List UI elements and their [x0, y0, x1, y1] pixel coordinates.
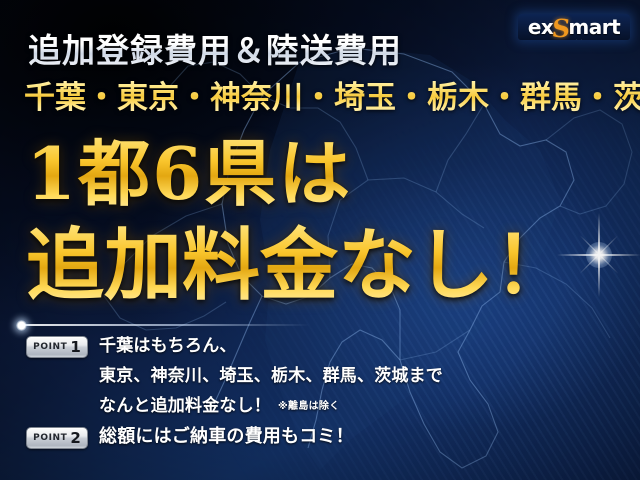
point-2-badge: POINT 2	[26, 427, 88, 449]
point-2-badge-word: POINT	[33, 433, 67, 443]
exsmart-logo[interactable]: ex S mart exsmart.jp	[518, 14, 630, 40]
point-1-block: POINT 1 千葉はもちろん、 東京、神奈川、埼玉、栃木、群馬、茨城まで なん…	[26, 336, 443, 422]
headline-line-2-prefectures: 千葉・東京・神奈川・埼玉・栃木・群馬・茨城の	[24, 72, 640, 117]
logo-text-suffix: mart	[568, 17, 620, 37]
point-1-text: 千葉はもちろん、 東京、神奈川、埼玉、栃木、群馬、茨城まで なんと追加料金なし！…	[99, 331, 443, 422]
headline-line-4-main: 追加料金なし！	[26, 203, 572, 315]
divider-dot-icon	[16, 320, 27, 331]
section-divider	[20, 324, 310, 326]
point-2-badge-number: 2	[70, 431, 80, 446]
point-2-text: 総額にはご納車の費用もコミ！	[99, 422, 354, 452]
point-1-line-1: 千葉はもちろん、	[99, 331, 443, 361]
point-2-line-1: 総額にはご納車の費用もコミ！	[99, 422, 354, 452]
logo-text-prefix: ex	[528, 17, 553, 37]
headline-line-1: 追加登録費用＆陸送費用	[28, 24, 402, 72]
point-1-badge-number: 1	[70, 340, 80, 355]
point-1-note: ※離島は除く	[278, 401, 340, 412]
logo-text-s: S	[551, 16, 572, 41]
point-1-line-3: なんと追加料金なし！	[99, 396, 271, 416]
point-1-badge-word: POINT	[33, 342, 67, 352]
logo-subtext: exsmart.jp	[556, 39, 586, 41]
point-1-line-3-wrap: なんと追加料金なし！※離島は除く	[99, 391, 443, 422]
point-1-badge: POINT 1	[26, 336, 88, 358]
point-1-line-2: 東京、神奈川、埼玉、栃木、群馬、茨城まで	[99, 361, 443, 391]
promo-banner: ex S mart exsmart.jp 追加登録費用＆陸送費用 千葉・東京・神…	[0, 0, 640, 480]
point-2-block: POINT 2 総額にはご納車の費用もコミ！	[26, 427, 354, 452]
